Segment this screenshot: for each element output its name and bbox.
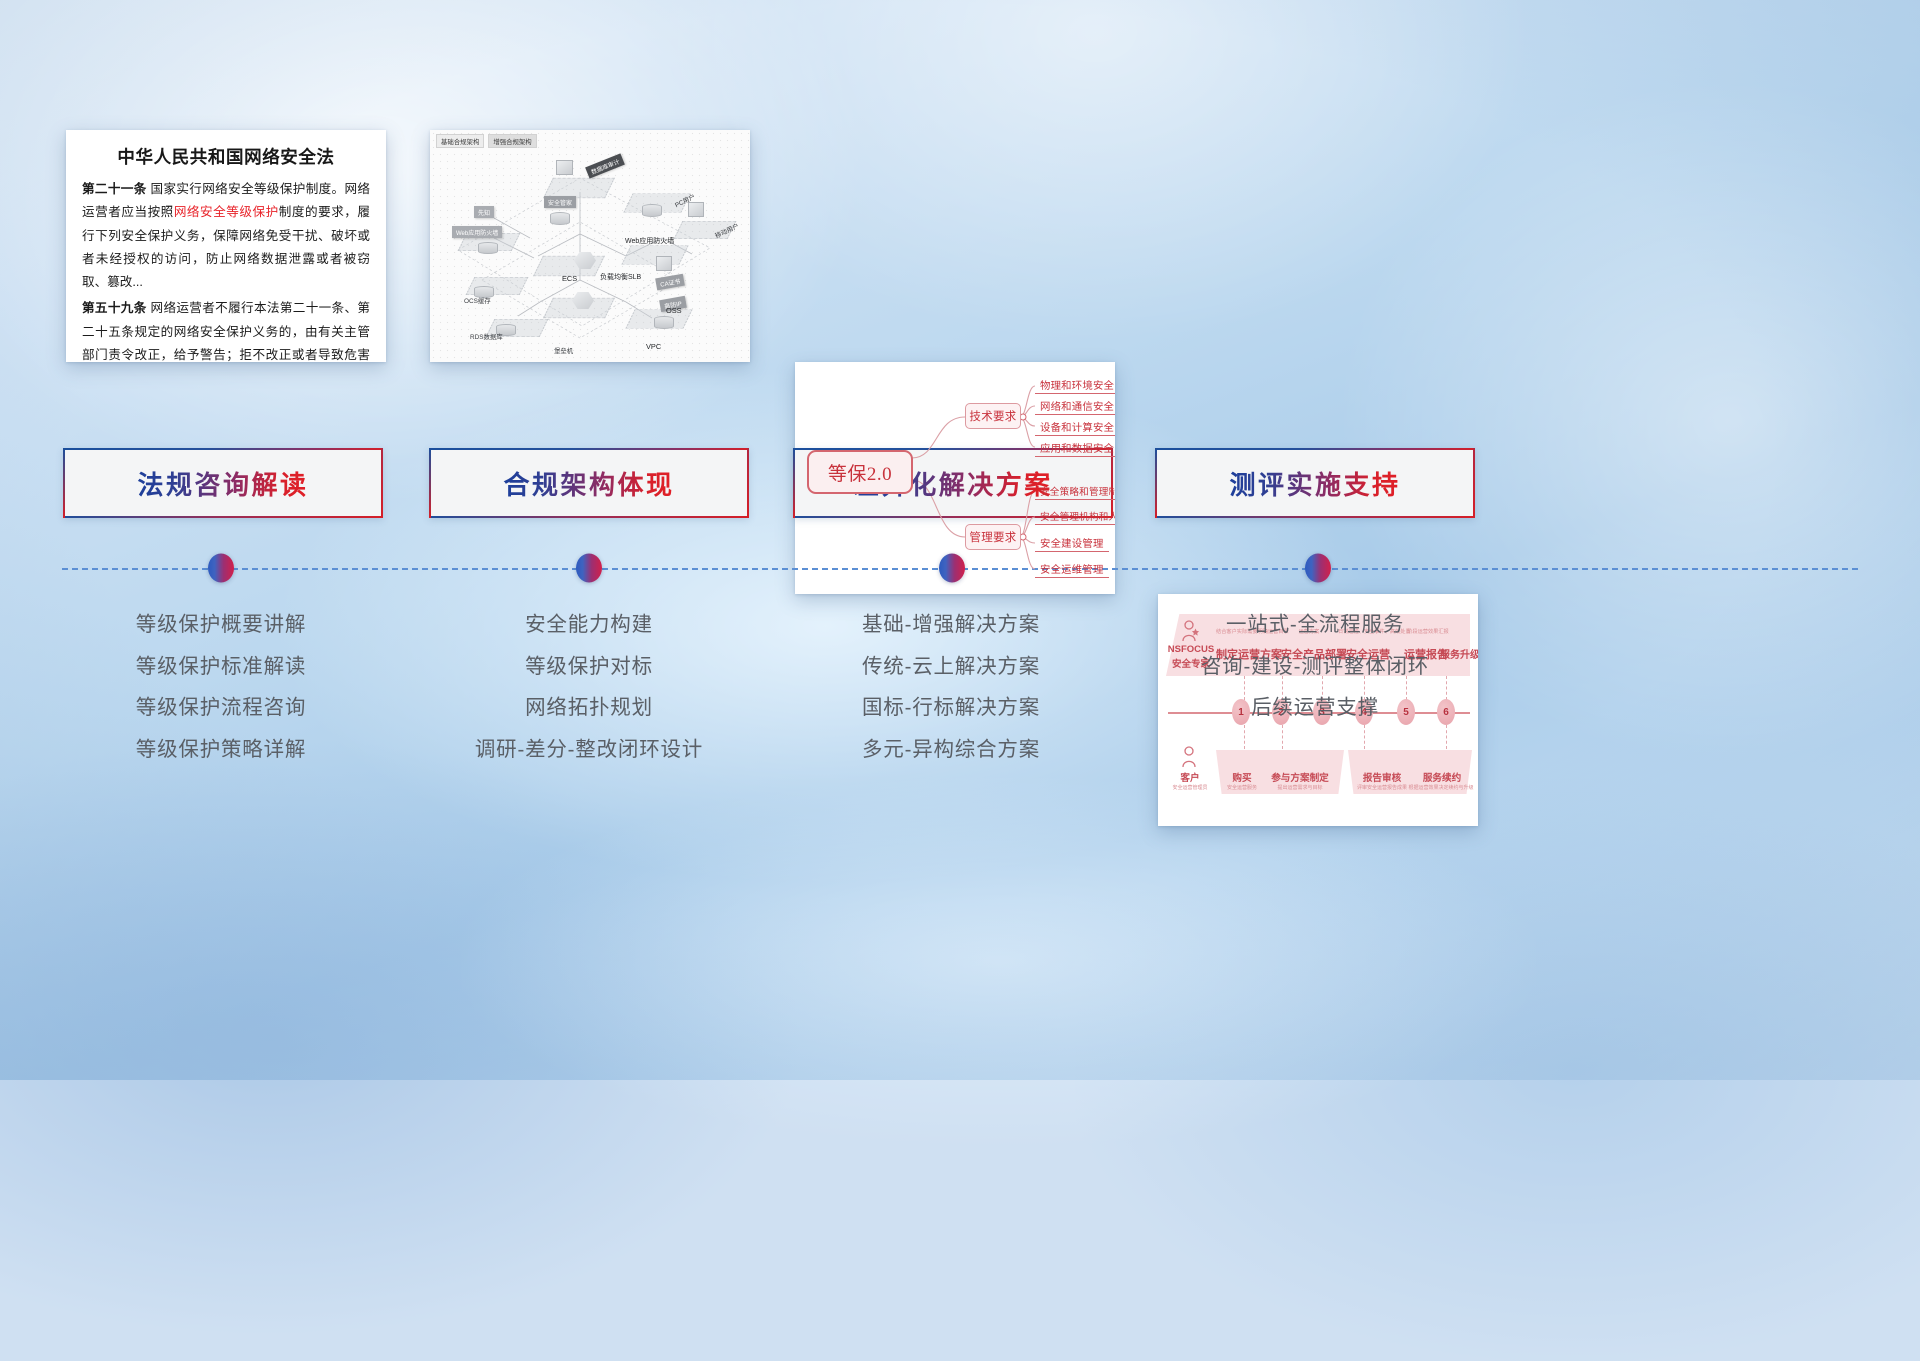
mindmap-leaf[interactable]: 物理和环境安全 [1035, 377, 1115, 394]
chip-security-housekeeper: 安全管家 [544, 196, 576, 208]
label-vpc: VPC [646, 342, 661, 351]
article-number: 第五十九条 [82, 301, 147, 315]
customer-step-label: 服务续约 [1412, 770, 1472, 784]
flow-connector [1446, 725, 1447, 749]
bullet-item: 咨询-建设-测评整体闭环 [1155, 657, 1475, 678]
chip-situation-awareness: Web应用防火墙 [452, 226, 502, 238]
flow-connector [1244, 725, 1245, 749]
mindmap-leaf[interactable]: 安全运维管理 [1035, 561, 1109, 578]
label-bastion-host: 堡垒机 [554, 346, 573, 355]
bullet-item: 网络拓扑规划 [429, 698, 749, 719]
node-shape-cube [688, 202, 704, 217]
bullet-item: 等级保护策略详解 [61, 740, 381, 761]
customer-step-label: 参与方案制定 [1262, 770, 1338, 784]
bullet-item: 等级保护标准解读 [61, 657, 381, 678]
chip-xianzhi: 先知 [474, 206, 494, 218]
architecture-tabs[interactable]: 基础合规架构 增强合规架构 [436, 134, 537, 148]
customer-step-sub: 安全运营服务 [1216, 784, 1268, 791]
tab-enhanced-architecture[interactable]: 增强合规架构 [488, 134, 536, 148]
mindmap-leaf[interactable]: 安全建设管理 [1035, 535, 1109, 552]
pillar-title: 测评实施支持 [1229, 465, 1400, 502]
pillar-bullets-4: 一站式-全流程服务 咨询-建设-测评整体闭环 后续运营支撑 [1155, 615, 1475, 719]
article-number: 第二十一条 [82, 182, 147, 196]
customer-step-sub: 提出运营需求与目标 [1262, 784, 1338, 791]
mindmap-leaf[interactable]: 设备和计算安全 [1035, 419, 1115, 436]
bullet-item: 基础-增强解决方案 [791, 615, 1111, 636]
law-card-title: 中华人民共和国网络安全法 [82, 144, 370, 169]
tab-basic-architecture[interactable]: 基础合规架构 [436, 134, 484, 148]
node-shape-cylinder [654, 316, 674, 329]
mindmap-leaf[interactable]: 安全管理机构和人员 [1035, 509, 1115, 525]
customer-step-label: 购买 [1220, 770, 1264, 784]
bullet-item: 一站式-全流程服务 [1155, 615, 1475, 636]
mindmap-branch-technical[interactable]: 技术要求 [965, 403, 1021, 429]
pillar-title: 法规咨询解读 [137, 465, 308, 502]
pillar-title: 合规架构体现 [503, 465, 674, 502]
expert-person-icon [1180, 620, 1200, 642]
bullet-item: 等级保护流程咨询 [61, 698, 381, 719]
bullet-item: 等级保护对标 [429, 657, 749, 678]
customer-role-label: 客户 [1164, 770, 1216, 784]
node-shape-cube [656, 256, 672, 271]
mindmap-leaf[interactable]: 安全策略和管理制度 [1035, 484, 1115, 500]
bullet-item: 调研-差分-整改闭环设计 [429, 740, 749, 761]
bullet-item: 等级保护概要讲解 [61, 615, 381, 636]
bullet-item: 多元-异构综合方案 [791, 740, 1111, 761]
pillar-title-box-4[interactable]: 测评实施支持 [1155, 448, 1475, 518]
pillar-title-box-1[interactable]: 法规咨询解读 [63, 448, 383, 518]
mindmap-branch-management[interactable]: 管理要求 [965, 524, 1021, 550]
bullet-item: 后续运营支撑 [1155, 698, 1475, 719]
label-ocs-cache: OCS缓存 [464, 296, 491, 305]
card-cybersecurity-law[interactable]: 中华人民共和国网络安全法 第二十一条 国家实行网络安全等级保护制度。网络运营者应… [66, 130, 386, 362]
timeline-marker-1[interactable] [208, 554, 234, 583]
label-ecs: ECS [562, 274, 577, 283]
timeline-marker-4[interactable] [1305, 554, 1331, 583]
node-shape-cylinder [550, 212, 570, 225]
customer-role-sub: 安全运营管理员 [1160, 784, 1220, 791]
pillar-bullets-2: 安全能力构建 等级保护对标 网络拓扑规划 调研-差分-整改闭环设计 [429, 615, 749, 760]
pillar-bullets-3: 基础-增强解决方案 传统-云上解决方案 国标-行标解决方案 多元-异构综合方案 [791, 615, 1111, 760]
label-rds-database: RDS数据库 [470, 332, 503, 341]
mindmap-root-node[interactable]: 等保2.0 [807, 450, 913, 494]
node-shape-cylinder [478, 242, 498, 254]
mindmap-leaf[interactable]: 网络和通信安全 [1035, 398, 1115, 415]
card-compliance-architecture[interactable]: 基础合规架构 增强合规架构 [430, 130, 750, 362]
pillar-bullets-1: 等级保护概要讲解 等级保护标准解读 等级保护流程咨询 等级保护策略详解 [61, 615, 381, 760]
article-highlight-1: 网络安全等级保护 [174, 205, 279, 219]
bullet-item: 安全能力构建 [429, 615, 749, 636]
node-shape-cylinder [642, 204, 662, 217]
label-waf: Web应用防火墙 [625, 236, 674, 246]
customer-step-sub: 根据运营效果决定续约与升级 [1406, 784, 1476, 791]
law-article-21: 第二十一条 国家实行网络安全等级保护制度。网络运营者应当按照网络安全等级保护制度… [82, 178, 370, 294]
label-slb: 负载均衡SLB [600, 272, 641, 282]
customer-person-icon [1180, 746, 1200, 768]
customer-step-label: 报告审核 [1350, 770, 1414, 784]
flow-connector [1364, 725, 1365, 749]
bullet-item: 传统-云上解决方案 [791, 657, 1111, 678]
pillar-title-box-2[interactable]: 合规架构体现 [429, 448, 749, 518]
mindmap-leaf[interactable]: 应用和数据安全 [1035, 440, 1115, 457]
flow-connector [1282, 725, 1283, 749]
law-article-59: 第五十九条 网络运营者不履行本法第二十一条、第二十五条规定的网络安全保护义务的，… [82, 297, 370, 362]
node-shape-cube [556, 160, 573, 175]
bullet-item: 国标-行标解决方案 [791, 698, 1111, 719]
timeline-marker-2[interactable] [576, 554, 602, 583]
label-oss: OSS [666, 306, 682, 315]
